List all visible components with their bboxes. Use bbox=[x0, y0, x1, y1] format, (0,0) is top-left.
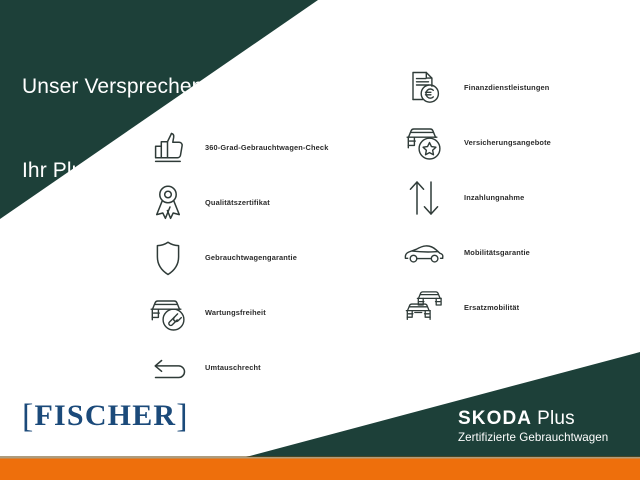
bracket-close: ] bbox=[176, 398, 189, 435]
feature-item-360-check: 360-Grad-Gebrauchtwagen-Check bbox=[142, 122, 328, 173]
quality-rosette-icon bbox=[142, 181, 194, 225]
sedan-car-icon bbox=[398, 231, 450, 275]
feature-label: Inzahlungnahme bbox=[464, 193, 524, 202]
feature-label: Ersatzmobilität bbox=[464, 303, 519, 312]
feature-item-maintenance-free: Wartungsfreiheit bbox=[142, 287, 328, 338]
divider-line bbox=[0, 456, 640, 459]
document-euro-icon bbox=[398, 66, 450, 110]
feature-item-trade-in: Inzahlungnahme bbox=[398, 172, 551, 223]
feature-item-replacement-mobility: Ersatzmobilität bbox=[398, 282, 551, 333]
feature-item-insurance-offers: Versicherungsangebote bbox=[398, 117, 551, 168]
shield-icon bbox=[142, 236, 194, 280]
skoda-wordmark: SKODA bbox=[458, 408, 532, 429]
promo-banner: Unser Versprechen. Ihr Plus. 360-Grad-Ge… bbox=[0, 0, 640, 480]
orange-footer-bar bbox=[0, 459, 640, 480]
feature-item-return-right: Umtauschrecht bbox=[142, 342, 328, 393]
feature-label: Versicherungsangebote bbox=[464, 138, 551, 147]
feature-label: Wartungsfreiheit bbox=[205, 308, 266, 317]
feature-item-mobility-guarantee: Mobilitätsgarantie bbox=[398, 227, 551, 278]
feature-item-financial-services: Finanzdienstleistungen bbox=[398, 62, 551, 113]
feature-label: 360-Grad-Gebrauchtwagen-Check bbox=[205, 143, 328, 152]
dealer-name: FISCHER bbox=[35, 399, 177, 432]
feature-list-left: 360-Grad-Gebrauchtwagen-Check Qualitätsz… bbox=[142, 122, 328, 397]
feature-label: Mobilitätsgarantie bbox=[464, 248, 530, 257]
feature-list-right: Finanzdienstleistungen Versicherungsange… bbox=[398, 62, 551, 337]
feature-label: Finanzdienstleistungen bbox=[464, 83, 549, 92]
feature-label: Umtauschrecht bbox=[205, 363, 261, 372]
skoda-tagline: Zertifizierte Gebrauchtwagen bbox=[458, 430, 608, 445]
bracket-open: [ bbox=[22, 398, 35, 435]
feature-label: Gebrauchtwagengarantie bbox=[205, 253, 297, 262]
car-wrench-icon bbox=[142, 291, 194, 335]
feature-label: Qualitätszertifikat bbox=[205, 198, 270, 207]
skoda-plus-logo: SKODAPlus Zertifizierte Gebrauchtwagen bbox=[458, 408, 608, 445]
two-cars-icon bbox=[398, 286, 450, 330]
return-arrow-icon bbox=[142, 346, 194, 390]
skoda-logo-line-1: SKODAPlus bbox=[458, 408, 608, 429]
headline-line-1: Unser Versprechen. bbox=[22, 73, 209, 101]
up-down-arrows-icon bbox=[398, 176, 450, 220]
feature-item-warranty: Gebrauchtwagengarantie bbox=[142, 232, 328, 283]
car-star-icon bbox=[398, 121, 450, 165]
plus-wordmark: Plus bbox=[537, 408, 575, 429]
thumbs-up-icon bbox=[142, 126, 194, 170]
dealer-logo: [FISCHER] bbox=[22, 398, 189, 436]
feature-item-quality-certificate: Qualitätszertifikat bbox=[142, 177, 328, 228]
